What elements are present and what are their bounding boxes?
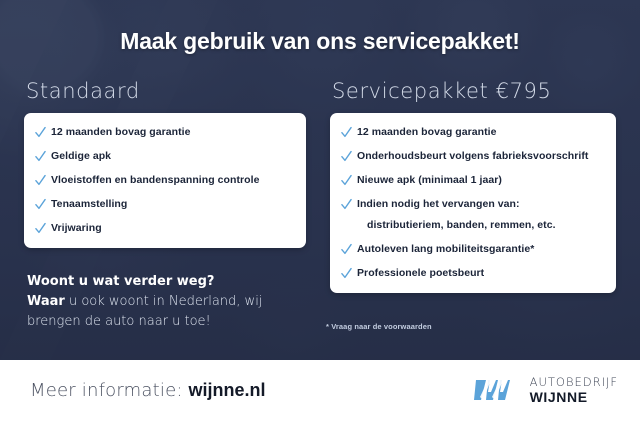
check-icon xyxy=(35,150,46,163)
brand-name: AUTOBEDRIJF WIJNNE xyxy=(530,377,618,404)
feature-card-servicepakket: 12 maanden bovag garantieOnderhoudsbeurt… xyxy=(330,113,616,293)
feature-text-wrap: 12 maanden bovag garantie xyxy=(357,126,497,139)
feature-text-wrap: Onderhoudsbeurt volgens fabrieksvoorschr… xyxy=(357,150,588,163)
promo-line-2-bold: Waar xyxy=(27,294,65,309)
check-icon xyxy=(35,126,46,139)
feature-label: Geldige apk xyxy=(51,150,111,163)
column-servicepakket: Servicepakket €795 12 maanden bovag gara… xyxy=(330,78,616,293)
check-icon xyxy=(35,222,46,235)
website-link[interactable]: wijnne.nl xyxy=(189,380,266,400)
delivery-promo-text: Woont u wat verder weg? Waar u ook woont… xyxy=(27,272,317,332)
column-standaard: Standaard 12 maanden bovag garantieGeldi… xyxy=(24,78,306,248)
wijnne-w-logo-icon xyxy=(474,377,522,403)
feature-label: Indien nodig het vervangen van: xyxy=(357,198,556,211)
feature-text-wrap: 12 maanden bovag garantie xyxy=(51,126,191,139)
check-icon xyxy=(341,150,352,163)
feature-item: 12 maanden bovag garantie xyxy=(35,126,293,139)
check-icon xyxy=(341,243,352,256)
page-title: Maak gebruik van ons servicepakket! xyxy=(0,28,640,55)
column-title-servicepakket: Servicepakket €795 xyxy=(332,78,616,104)
feature-card-standaard: 12 maanden bovag garantieGeldige apkVloe… xyxy=(24,113,306,248)
footer-bar: Meer informatie: wijnne.nl AUTOBEDRIJF W… xyxy=(0,360,640,427)
feature-label: Onderhoudsbeurt volgens fabrieksvoorschr… xyxy=(357,150,588,163)
check-icon xyxy=(341,198,352,211)
feature-item: 12 maanden bovag garantie xyxy=(341,126,603,139)
feature-text-wrap: Geldige apk xyxy=(51,150,111,163)
feature-list-servicepakket: 12 maanden bovag garantieOnderhoudsbeurt… xyxy=(341,126,603,280)
feature-label: Vrijwaring xyxy=(51,222,102,235)
more-info-text: Meer informatie: wijnne.nl xyxy=(30,380,266,401)
check-icon xyxy=(341,126,352,139)
feature-label: 12 maanden bovag garantie xyxy=(357,126,497,139)
feature-label: Tenaamstelling xyxy=(51,198,127,211)
check-icon xyxy=(35,174,46,187)
feature-item: Indien nodig het vervangen van:distribut… xyxy=(341,198,603,232)
conditions-footnote: * Vraag naar de voorwaarden xyxy=(326,322,432,331)
feature-text-wrap: Autoleven lang mobiliteitsgarantie* xyxy=(357,243,534,256)
more-info-prefix: Meer informatie: xyxy=(30,380,189,401)
feature-item: Onderhoudsbeurt volgens fabrieksvoorschr… xyxy=(341,150,603,163)
feature-list-standaard: 12 maanden bovag garantieGeldige apkVloe… xyxy=(35,126,293,235)
feature-text-wrap: Nieuwe apk (minimaal 1 jaar) xyxy=(357,174,502,187)
feature-item: Professionele poetsbeurt xyxy=(341,267,603,280)
feature-label: Autoleven lang mobiliteitsgarantie* xyxy=(357,243,534,256)
brand-logo[interactable]: AUTOBEDRIJF WIJNNE xyxy=(474,377,618,404)
feature-sublabel: distributieriem, banden, remmen, etc. xyxy=(367,219,556,232)
promo-line-2-rest: u ook woont in Nederland, wij xyxy=(65,294,263,309)
feature-text-wrap: Tenaamstelling xyxy=(51,198,127,211)
column-title-standaard: Standaard xyxy=(26,78,306,104)
feature-label: Nieuwe apk (minimaal 1 jaar) xyxy=(357,174,502,187)
feature-text-wrap: Professionele poetsbeurt xyxy=(357,267,484,280)
feature-item: Geldige apk xyxy=(35,150,293,163)
feature-item: Vrijwaring xyxy=(35,222,293,235)
check-icon xyxy=(35,198,46,211)
brand-name-bottom: WIJNNE xyxy=(530,390,618,404)
brand-name-top: AUTOBEDRIJF xyxy=(530,377,618,389)
feature-item: Tenaamstelling xyxy=(35,198,293,211)
feature-label: Professionele poetsbeurt xyxy=(357,267,484,280)
promo-line-1: Woont u wat verder weg? xyxy=(27,272,317,292)
feature-item: Nieuwe apk (minimaal 1 jaar) xyxy=(341,174,603,187)
feature-text-wrap: Vloeistoffen en bandenspanning controle xyxy=(51,174,259,187)
promo-line-3: brengen de auto naar u toe! xyxy=(27,314,211,329)
feature-label: Vloeistoffen en bandenspanning controle xyxy=(51,174,259,187)
feature-text-wrap: Vrijwaring xyxy=(51,222,102,235)
check-icon xyxy=(341,174,352,187)
check-icon xyxy=(341,267,352,280)
feature-item: Autoleven lang mobiliteitsgarantie* xyxy=(341,243,603,256)
feature-text-wrap: Indien nodig het vervangen van:distribut… xyxy=(357,198,556,232)
feature-item: Vloeistoffen en bandenspanning controle xyxy=(35,174,293,187)
feature-label: 12 maanden bovag garantie xyxy=(51,126,191,139)
service-package-banner: Maak gebruik van ons servicepakket! Stan… xyxy=(0,0,640,427)
